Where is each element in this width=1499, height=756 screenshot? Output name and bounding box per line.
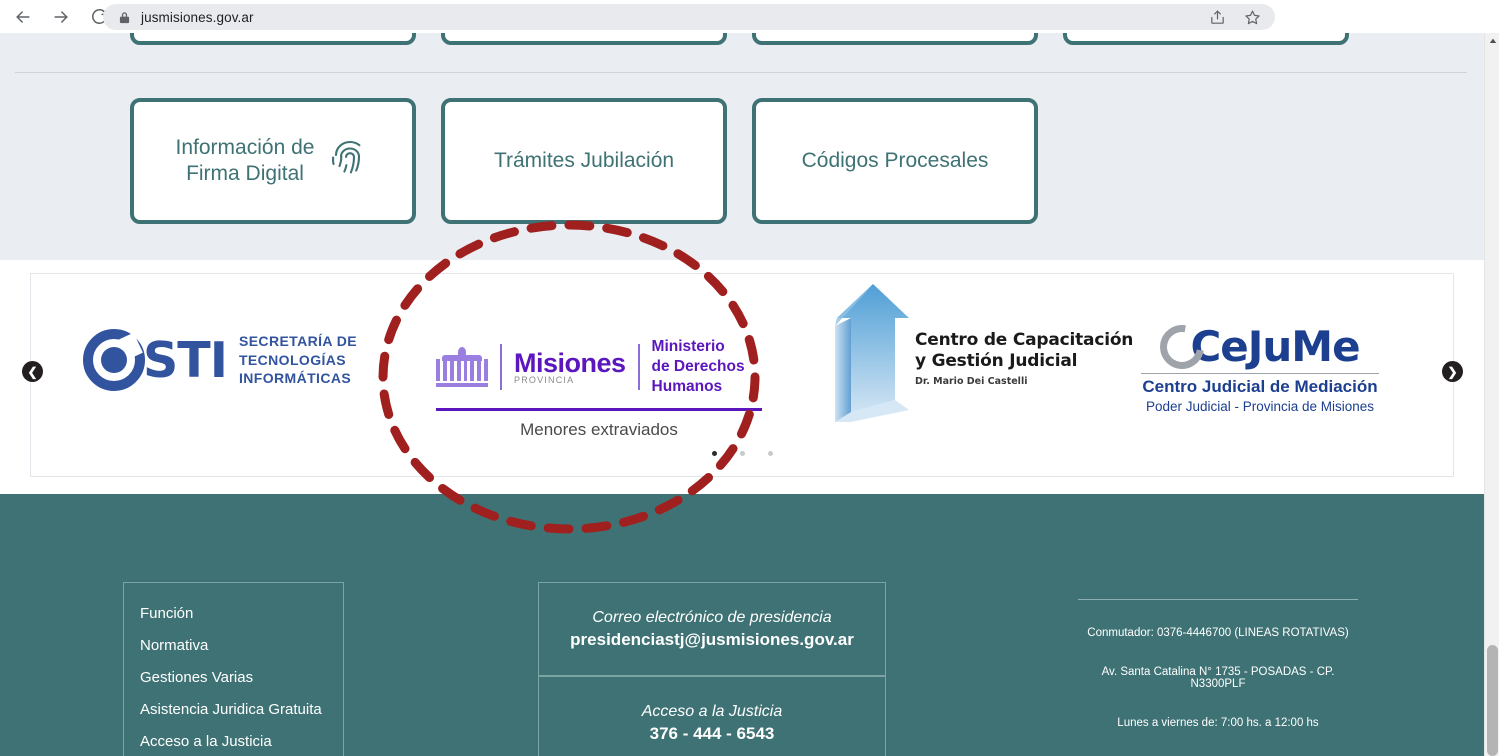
forward-button[interactable] [46, 2, 76, 32]
ministerio-line3: Humanos [652, 378, 723, 395]
lock-icon[interactable] [119, 11, 130, 24]
footer-phone-title: Acceso a la Justicia [539, 703, 885, 721]
footer-contact-block: Conmutador: 0376-4446700 (LINEAS ROTATIV… [1078, 599, 1358, 756]
menores-extraviados-caption: Menores extraviados [436, 420, 762, 440]
quicklink-label: Información de Firma Digital [176, 135, 315, 188]
footer-link-funcion[interactable]: Función [140, 605, 343, 622]
carousel-next-button[interactable]: ❯ [1442, 361, 1463, 382]
sti-tagline-line3: INFORMÁTICAS [239, 370, 351, 386]
cejume-rule [1141, 373, 1379, 374]
carousel-dot-2[interactable] [740, 451, 745, 456]
bookmark-star-icon[interactable] [1244, 9, 1261, 26]
cejume-logo-row: CeJuMe [1160, 322, 1359, 371]
misiones-logo-row: Misiones PROVINCIA Ministerio de Derecho… [436, 337, 762, 396]
sti-ring-icon [83, 329, 145, 391]
ccgj-line2: y Gestión Judicial [915, 351, 1133, 372]
sti-tagline: SECRETARÍA DE TECNOLOGÍAS INFORMÁTICAS [239, 332, 357, 389]
triangle-up-icon [1489, 37, 1497, 45]
logo-cejume[interactable]: CeJuMe Centro Judicial de Mediación Pode… [1141, 322, 1379, 414]
footer-contact-rule [1078, 599, 1358, 600]
ministerio-text: Ministerio de Derechos Humanos [652, 337, 745, 396]
sti-tagline-line1: SECRETARÍA DE [239, 333, 357, 349]
carousel-prev-button[interactable]: ❮ [22, 361, 43, 382]
footer-link-gestiones-varias[interactable]: Gestiones Varias [140, 669, 343, 686]
fingerprint-icon [330, 137, 370, 186]
omnibox-actions [1209, 4, 1261, 30]
misiones-wordmark-block: Misiones PROVINCIA [514, 348, 626, 385]
quicklink-label-line1: Información de [176, 136, 315, 159]
browser-toolbar: jusmisiones.gov.ar [0, 0, 1499, 33]
carousel-dot-1[interactable] [712, 451, 717, 456]
footer-hours: Lunes a viernes de: 7:00 hs. a 12:00 hs [1078, 717, 1358, 729]
carousel-dot-3[interactable] [768, 451, 773, 456]
carousel-dots [0, 451, 1484, 456]
quicklinks-section: Información de Firma Digital Trámites Ju… [0, 33, 1484, 260]
share-icon[interactable] [1209, 9, 1226, 26]
quicklink-card-tramites-jubilacion[interactable]: Trámites Jubilación [441, 98, 727, 224]
footer-email-value: presidenciastj@jusmisiones.gov.ar [539, 630, 885, 650]
quicklink-card-codigos-procesales[interactable]: Códigos Procesales [752, 98, 1038, 224]
scrollbar-thumb[interactable] [1487, 645, 1498, 756]
quicklink-label-line2: Firma Digital [186, 162, 304, 185]
quicklink-card-cut-4[interactable] [1063, 33, 1349, 45]
page-viewport: Información de Firma Digital Trámites Ju… [0, 33, 1499, 756]
footer-phone-box[interactable]: Acceso a la Justicia 376 - 444 - 6543 [538, 676, 886, 756]
ministerio-line1: Ministerio [652, 338, 725, 355]
cejume-wordmark: CeJuMe [1190, 322, 1359, 371]
footer-email-title: Correo electrónico de presidencia [539, 609, 885, 627]
quicklink-card-cut-1[interactable] [130, 33, 416, 45]
quicklink-label: Trámites Jubilación [494, 148, 674, 174]
logo-separator [638, 344, 640, 390]
back-button[interactable] [8, 2, 38, 32]
footer-link-normativa[interactable]: Normativa [140, 637, 343, 654]
cejume-line2: Poder Judicial - Provincia de Misiones [1146, 399, 1374, 414]
ministerio-line2: de Derechos [652, 358, 745, 375]
logo-sti[interactable]: STI SECRETARÍA DE TECNOLOGÍAS INFORMÁTIC… [83, 329, 357, 391]
sti-tagline-line2: TECNOLOGÍAS [239, 352, 346, 368]
logo-separator [500, 344, 502, 390]
footer-email-box[interactable]: Correo electrónico de presidencia presid… [538, 582, 886, 676]
ccgj-line3: Dr. Mario Dei Castelli [915, 376, 1133, 387]
section-divider [15, 72, 1467, 73]
address-bar[interactable]: jusmisiones.gov.ar [103, 4, 1275, 30]
footer-address: Av. Santa Catalina N° 1735 - POSADAS - C… [1078, 666, 1358, 690]
scrollbar-up-arrow[interactable] [1485, 33, 1499, 48]
quicklink-card-cut-2[interactable] [441, 33, 727, 45]
footer-switchboard: Conmutador: 0376-4446700 (LINEAS ROTATIV… [1078, 627, 1358, 639]
logo-misiones-ddhh[interactable]: Misiones PROVINCIA Ministerio de Derecho… [436, 337, 762, 440]
quicklink-label: Códigos Procesales [802, 148, 989, 174]
logo-centro-capacitacion[interactable]: Centro de Capacitación y Gestión Judicia… [829, 282, 1133, 422]
footer-link-asistencia-juridica-gratuita[interactable]: Asistencia Juridica Gratuita [140, 701, 343, 718]
footer-links-list: Función Normativa Gestiones Varias Asist… [123, 582, 344, 756]
site-footer: Función Normativa Gestiones Varias Asist… [0, 494, 1484, 756]
arrow-up-icon [829, 282, 911, 422]
quicklink-card-cut-3[interactable] [752, 33, 1038, 45]
misiones-rule [436, 408, 762, 411]
ccgj-text-block: Centro de Capacitación y Gestión Judicia… [915, 330, 1133, 387]
palacio-building-icon [436, 347, 488, 387]
page-scrollbar[interactable] [1484, 33, 1499, 756]
url-text: jusmisiones.gov.ar [141, 10, 254, 25]
ccgj-line1: Centro de Capacitación [915, 330, 1133, 351]
footer-link-acceso-a-la-justicia[interactable]: Acceso a la Justicia [140, 733, 343, 750]
footer-phone-value: 376 - 444 - 6543 [539, 724, 885, 744]
partner-logo-carousel: STI SECRETARÍA DE TECNOLOGÍAS INFORMÁTIC… [30, 273, 1454, 477]
sti-wordmark: STI [143, 332, 227, 389]
quicklink-card-firma-digital[interactable]: Información de Firma Digital [130, 98, 416, 224]
cejume-line1: Centro Judicial de Mediación [1142, 377, 1377, 397]
